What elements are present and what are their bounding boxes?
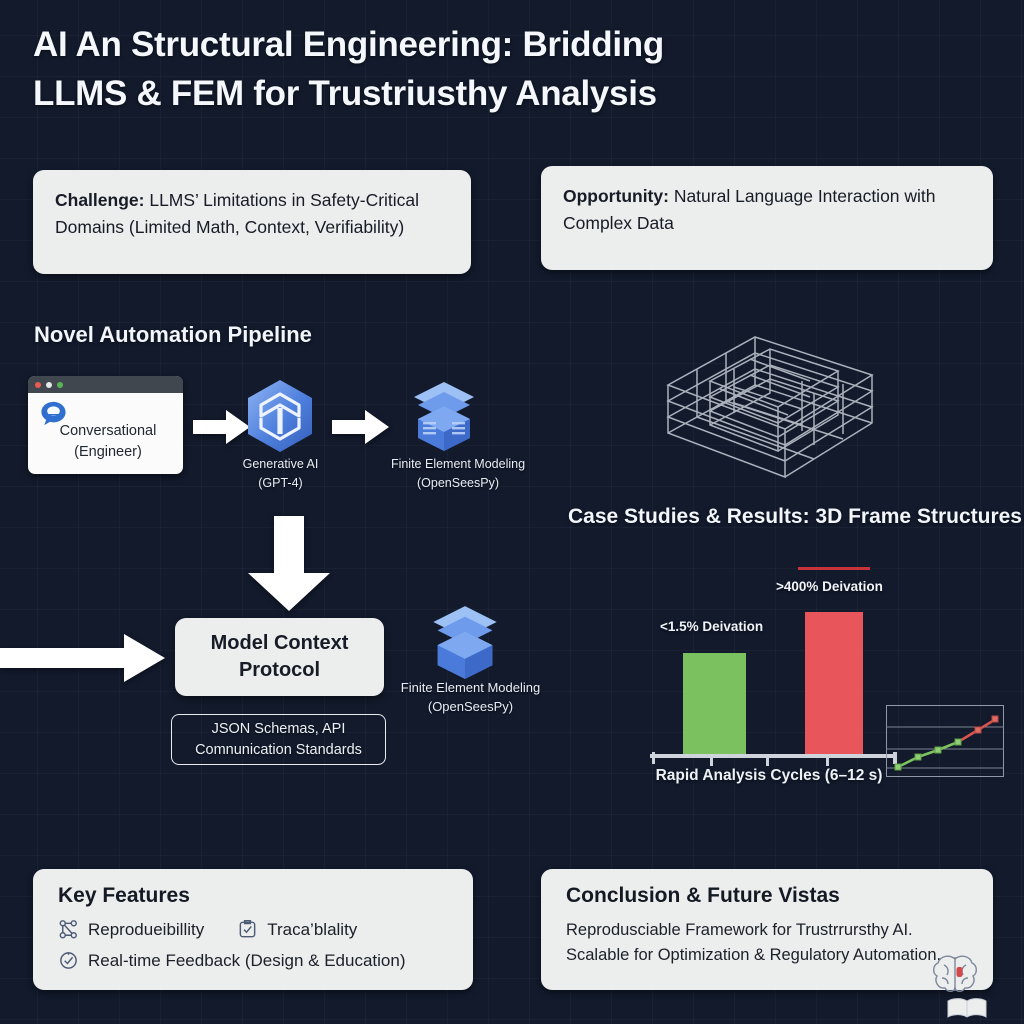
key-features-card: Key Features Reprodueibillity	[33, 869, 473, 990]
arrow-right-icon-3	[0, 632, 166, 684]
conversational-window: Conversational (Engineer)	[28, 376, 183, 474]
mcp-line-1: Model Context	[211, 632, 349, 654]
network-nodes-icon	[58, 919, 79, 940]
conclusion-title: Conclusion & Future Vistas	[566, 884, 993, 908]
page-title: AI An Structural Engineering: Bridding L…	[33, 20, 833, 118]
clipboard-check-icon	[237, 919, 258, 940]
infographic-root: AI An Structural Engineering: Bridding L…	[0, 0, 1024, 1024]
genai-line-2: (GPT-4)	[203, 474, 358, 493]
genai-label: Generative AI (GPT-4)	[203, 455, 358, 493]
challenge-text: Challenge: LLMS’ Limitations in Safety-C…	[33, 170, 471, 256]
window-content: Conversational (Engineer)	[28, 393, 183, 474]
case-studies-heading: Case Studies & Results: 3D Frame Structu…	[568, 505, 1022, 529]
fem-label-1: Finite Element Modeling (OpenSeesPy)	[358, 455, 558, 493]
mcp-line-2: Protocol	[239, 659, 320, 681]
clock-check-icon	[58, 950, 79, 971]
feature-label-reproducibility: Reprodueibillity	[88, 917, 204, 942]
key-features-title: Key Features	[58, 884, 473, 908]
bar-green	[683, 653, 746, 756]
genai-line-1: Generative AI	[203, 455, 358, 474]
feature-label-traceability: Traca’blality	[267, 917, 357, 942]
feature-label-realtime: Real-time Feedback (Design & Education)	[88, 948, 405, 973]
book-icon	[947, 997, 987, 1021]
arrow-right-icon-2	[332, 407, 390, 447]
brain-icon	[929, 947, 981, 999]
fem-label-2: Finite Element Modeling (OpenSeesPy)	[378, 678, 563, 716]
challenge-label: Challenge:	[55, 190, 144, 210]
maximize-dot-icon	[57, 382, 63, 388]
window-titlebar	[28, 376, 183, 393]
opportunity-card: Opportunity: Natural Language Interactio…	[541, 166, 993, 270]
blue-cube-icon-2	[430, 604, 500, 680]
3d-frame-wireframe-icon	[650, 325, 890, 490]
opportunity-label: Opportunity:	[563, 186, 669, 206]
fem2-line-1: Finite Element Modeling	[378, 678, 563, 697]
bar-label-green: <1.5% Deivation	[660, 619, 763, 634]
conversational-line-2: (Engineer)	[38, 442, 178, 463]
inset-line-chart	[886, 705, 1004, 777]
conclusion-line-1: Reproduscіable Framework for Trustrrurst…	[566, 918, 993, 943]
conclusion-card: Conclusion & Future Vistas Reproduscіabl…	[541, 869, 993, 990]
results-bar-chart: <1.5% Deivation >400% Deivation Rapid An…	[650, 570, 1010, 785]
hexagon-ai-icon	[243, 378, 317, 454]
mcp-sub-line-1: JSON Schemas, API	[212, 721, 346, 737]
bar-label-red: >400% Deivation	[776, 579, 883, 594]
fem-line-2: (OpenSeesPy)	[358, 474, 558, 493]
pipeline-heading: Novel Automation Pipeline	[34, 322, 312, 348]
fem2-line-2: (OpenSeesPy)	[378, 697, 563, 716]
bar-red	[805, 612, 863, 756]
chart-x-axis-label: Rapid Analysis Cycles (6–12 s)	[654, 767, 884, 785]
chart-x-axis	[650, 752, 900, 766]
close-dot-icon	[35, 382, 41, 388]
red-marker-line	[798, 567, 870, 570]
feature-item-realtime: Real-time Feedback (Design & Education)	[58, 948, 473, 973]
model-context-protocol-card: Model Context Protocol	[175, 618, 384, 696]
opportunity-text: Opportunity: Natural Language Interactio…	[541, 166, 993, 252]
mcp-standards-box: JSON Schemas, API Comnunication Standard…	[171, 714, 386, 765]
feature-item-traceability: Traca’blality	[237, 917, 357, 942]
fem-line-1: Finite Element Modeling	[358, 455, 558, 474]
minimize-dot-icon	[46, 382, 52, 388]
conversational-label: Conversational (Engineer)	[38, 421, 178, 463]
blue-cube-icon-1	[411, 380, 477, 452]
title-line-2: LLMS & FEM for Trustriusthy Analysis	[33, 69, 833, 118]
mcp-sub-line-2: Comnunication Standards	[195, 742, 362, 758]
title-line-1: AI An Structural Engineering: Bridding	[33, 20, 833, 69]
challenge-card: Challenge: LLMS’ Limitations in Safety-C…	[33, 170, 471, 274]
arrow-down-icon	[245, 516, 333, 612]
feature-item-reproducibility: Reprodueibillity	[58, 917, 204, 942]
conversational-line-1: Conversational	[38, 421, 178, 442]
mcp-title: Model Context Protocol	[211, 630, 349, 684]
mcp-sub-text: JSON Schemas, API Comnunication Standard…	[195, 719, 362, 761]
